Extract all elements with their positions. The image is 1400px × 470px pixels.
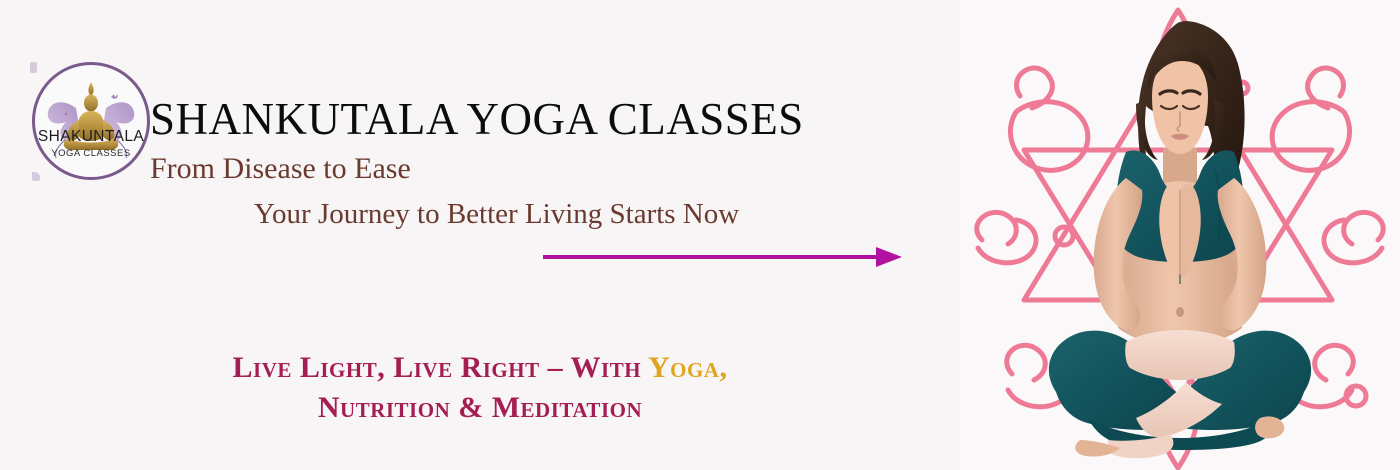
slogan-line1-part1: Live Light, Live Right – With xyxy=(233,351,648,384)
meditating-figure-with-butterfly-wings-icon xyxy=(32,62,150,180)
slogan: Live Light, Live Right – With Yoga, Nutr… xyxy=(0,348,960,427)
hero-image xyxy=(960,0,1400,470)
tagline-secondary: Your Journey to Better Living Starts Now xyxy=(254,198,739,231)
slogan-line1-comma: , xyxy=(719,351,727,384)
logo-brand-name: SHAKUNTALA xyxy=(32,128,150,146)
yoga-promo-banner: SHAKUNTALA YOGA CLASSES SHANKUTALA YOGA … xyxy=(0,0,1400,470)
brand-logo[interactable]: SHAKUNTALA YOGA CLASSES xyxy=(32,62,150,180)
logo-subtitle: YOGA CLASSES xyxy=(32,148,150,159)
slogan-highlight-yoga: Yoga xyxy=(648,351,720,384)
page-title: SHANKUTALA YOGA CLASSES xyxy=(150,97,804,142)
right-arrow-icon xyxy=(540,243,905,271)
woman-in-lotus-pose-photo xyxy=(960,0,1400,470)
tagline-primary: From Disease to Ease xyxy=(150,152,411,187)
slogan-line2: Nutrition & Meditation xyxy=(0,388,960,428)
